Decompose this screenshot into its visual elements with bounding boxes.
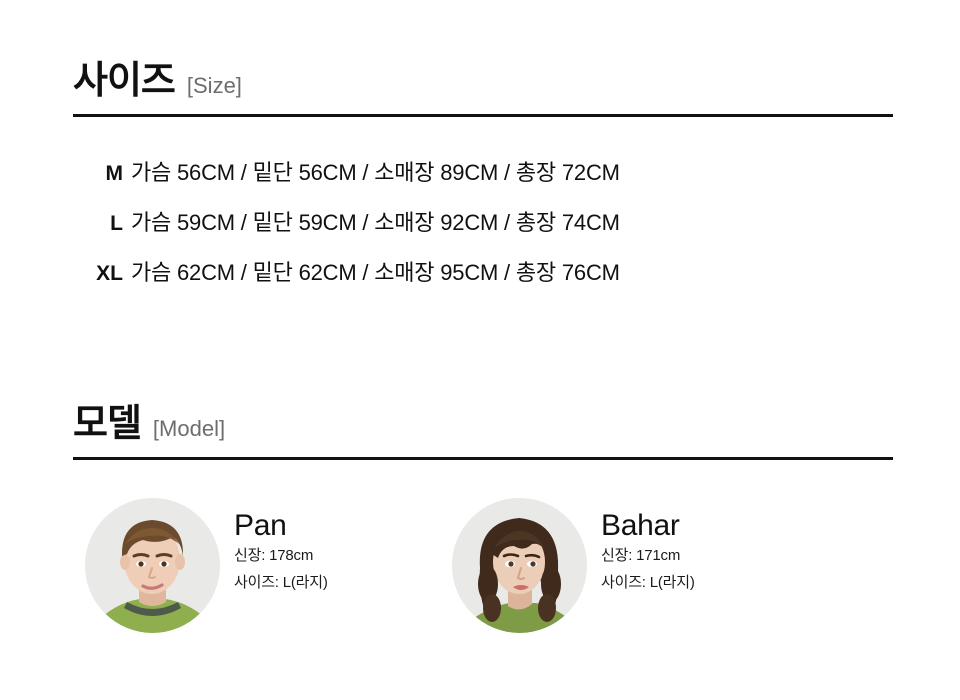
model-name: Pan	[234, 510, 328, 542]
model-list: Pan 신장: 178cm 사이즈: L(라지)	[85, 498, 772, 633]
size-measurements-xl: 가슴 62CM / 밑단 62CM / 소매장 95CM / 총장 76CM	[131, 255, 620, 287]
table-row: M 가슴 56CM / 밑단 56CM / 소매장 89CM / 총장 72CM	[73, 155, 893, 205]
size-section-header: 사이즈 [Size]	[73, 62, 893, 106]
list-item: Bahar 신장: 171cm 사이즈: L(라지)	[452, 498, 772, 633]
product-detail-page: 사이즈 [Size] M 가슴 56CM / 밑단 56CM / 소매장 89C…	[0, 0, 960, 700]
table-row: XL 가슴 62CM / 밑단 62CM / 소매장 95CM / 총장 76C…	[73, 255, 893, 305]
model-section-header: 모델 [Model]	[73, 405, 893, 449]
size-label-l: L	[73, 212, 123, 236]
size-section-title-english: [Size]	[187, 75, 242, 97]
model-height: 신장: 178cm	[234, 542, 328, 570]
list-item: Pan 신장: 178cm 사이즈: L(라지)	[85, 498, 405, 633]
model-section-title-korean: 모델	[73, 405, 141, 443]
model-portrait-photo	[85, 498, 220, 633]
model-section-title-english: [Model]	[153, 418, 225, 440]
model-portrait-photo	[452, 498, 587, 633]
size-table: M 가슴 56CM / 밑단 56CM / 소매장 89CM / 총장 72CM…	[73, 155, 893, 305]
model-size: 사이즈: L(라지)	[601, 569, 695, 597]
model-info: Pan 신장: 178cm 사이즈: L(라지)	[234, 498, 328, 597]
size-section-title-korean: 사이즈	[73, 62, 175, 100]
size-measurements-m: 가슴 56CM / 밑단 56CM / 소매장 89CM / 총장 72CM	[131, 155, 620, 187]
size-section: 사이즈 [Size]	[73, 62, 893, 117]
avatar	[85, 498, 220, 633]
size-label-xl: XL	[73, 262, 123, 286]
size-section-divider	[73, 114, 893, 117]
model-height: 신장: 171cm	[601, 542, 695, 570]
avatar	[452, 498, 587, 633]
model-section-divider	[73, 457, 893, 460]
size-label-m: M	[73, 162, 123, 186]
model-size: 사이즈: L(라지)	[234, 569, 328, 597]
model-section: 모델 [Model]	[73, 405, 893, 460]
table-row: L 가슴 59CM / 밑단 59CM / 소매장 92CM / 총장 74CM	[73, 205, 893, 255]
size-measurements-l: 가슴 59CM / 밑단 59CM / 소매장 92CM / 총장 74CM	[131, 205, 620, 237]
model-name: Bahar	[601, 510, 695, 542]
model-info: Bahar 신장: 171cm 사이즈: L(라지)	[601, 498, 695, 597]
